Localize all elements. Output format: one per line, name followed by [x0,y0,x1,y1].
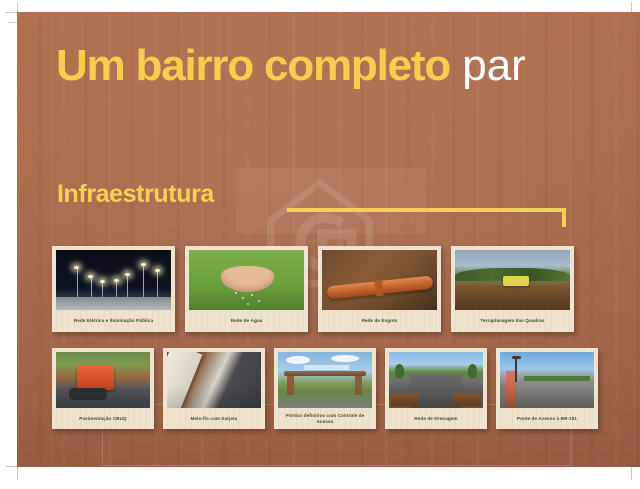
section-heading: Infraestrutura [57,182,214,207]
section-accent-line [287,208,566,227]
card-caption: Terraplanagem das Quadras [455,310,570,332]
card-caption: Rede de Drenagem [389,408,483,429]
curb-and-gutter-photo [167,352,261,408]
slide-canvas: Um bairro completo par Infraestrutura [0,0,640,489]
page-title-highlight: Um bairro completo [56,41,450,90]
street-lights-at-night-photo [56,250,171,310]
bridge-access-road-photo [500,352,594,408]
card-caption: Rede de Água [189,310,304,332]
infrastructure-cards-row-1: Rede Elétrica e Iluminação Pública Rede … [52,246,574,332]
hands-with-water-photo [189,250,304,310]
page-title-rest: par [450,41,526,90]
card-caption: Ponte de Acesso à BR-101 [500,408,594,429]
drainage-street-photo [389,352,483,408]
accent-line-horizontal [287,208,566,212]
card-caption: Rede de Esgoto [322,310,437,332]
card-caption: Meio-fio com Sarjeta [167,408,261,429]
card-portico-controle-acesso[interactable]: Pórtico definitivo com Controle de Acess… [274,348,376,429]
card-rede-de-agua[interactable]: Rede de Água [185,246,308,332]
crop-mark-bottom-left-v [17,466,18,480]
earthmoving-dozer-photo [455,250,570,310]
card-caption: Rede Elétrica e Iluminação Pública [56,310,171,332]
entrance-portico-gate-photo [278,352,372,408]
accent-line-vertical-tip [562,208,566,227]
road-roller-paving-photo [56,352,150,408]
sewer-pipe-trench-photo [322,250,437,310]
card-meio-fio-sarjeta[interactable]: Meio-fio com Sarjeta [163,348,265,429]
card-rede-eletrica[interactable]: Rede Elétrica e Iluminação Pública [52,246,175,332]
page-title: Um bairro completo par [56,44,526,88]
card-rede-de-drenagem[interactable]: Rede de Drenagem [385,348,487,429]
infrastructure-cards-row-2: Pavimentação CBUQ Meio-fio com Sarjeta [52,348,598,429]
card-terraplanagem[interactable]: Terraplanagem das Quadras [451,246,574,332]
card-pavimentacao-cbuq[interactable]: Pavimentação CBUQ [52,348,154,429]
crop-mark-bottom-right-v [631,466,632,480]
card-ponte-acesso-br[interactable]: Ponte de Acesso à BR-101 [496,348,598,429]
card-rede-de-esgoto[interactable]: Rede de Esgoto [318,246,441,332]
card-caption: Pavimentação CBUQ [56,408,150,429]
card-caption: Pórtico definitivo com Controle de Acess… [278,408,372,429]
